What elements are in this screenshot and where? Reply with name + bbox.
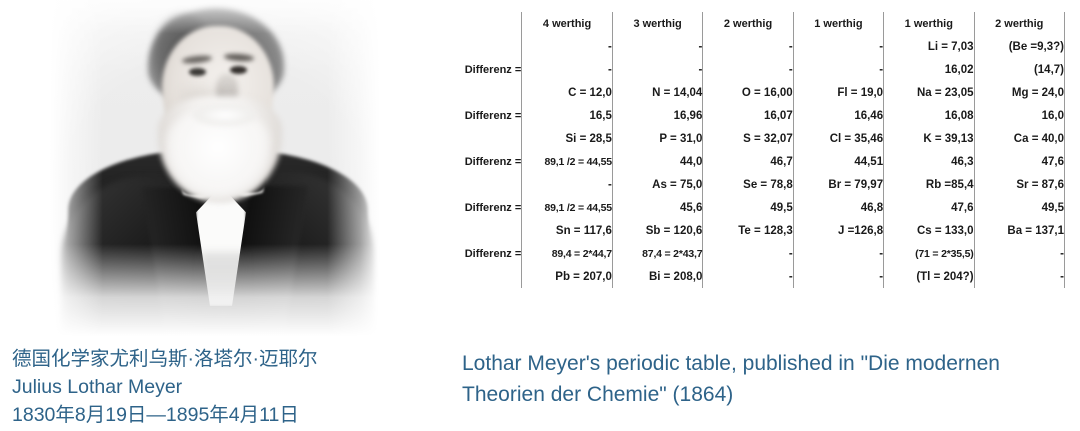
table-row: Differenz =16,516,9616,0716,4616,0816,0 bbox=[425, 104, 1065, 127]
element-cell: (71 = 2*35,5) bbox=[884, 242, 974, 265]
column-header-2: 2 werthig bbox=[703, 12, 793, 35]
element-cell: 16,02 bbox=[884, 58, 974, 81]
element-cell: 89,4 = 2*44,7 bbox=[522, 242, 613, 265]
element-cell: - bbox=[793, 58, 883, 81]
difference-label: Differenz = bbox=[425, 58, 522, 81]
element-cell: - bbox=[793, 35, 883, 58]
element-cell: - bbox=[793, 265, 883, 288]
element-cell: Sr = 87,6 bbox=[974, 173, 1064, 196]
element-cell: - bbox=[974, 265, 1064, 288]
element-cell: - bbox=[703, 242, 793, 265]
element-cell: As = 75,0 bbox=[612, 173, 702, 196]
element-cell: Pb = 207,0 bbox=[522, 265, 613, 288]
portrait-caption-line-1: 德国化学家尤利乌斯·洛塔尔·迈耶尔 bbox=[12, 345, 318, 373]
element-cell: (14,7) bbox=[974, 58, 1064, 81]
element-cell: Cl = 35,46 bbox=[793, 127, 883, 150]
element-cell: 45,6 bbox=[612, 196, 702, 219]
element-cell: Sn = 117,6 bbox=[522, 219, 613, 242]
element-cell: 44,51 bbox=[793, 150, 883, 173]
portrait-caption-line-3: 1830年8月19日—1895年4月11日 bbox=[12, 401, 318, 429]
element-cell: - bbox=[522, 35, 613, 58]
table-row: Differenz =89,1 /2 = 44,5545,649,546,847… bbox=[425, 196, 1065, 219]
row-label-empty bbox=[425, 127, 522, 150]
element-cell: - bbox=[612, 58, 702, 81]
lothar-meyer-periodic-table: 4 werthig 3 werthig 2 werthig 1 werthig … bbox=[425, 12, 1065, 288]
header-label-spacer bbox=[425, 12, 522, 35]
element-cell: Li = 7,03 bbox=[884, 35, 974, 58]
difference-label: Differenz = bbox=[425, 196, 522, 219]
element-cell: - bbox=[703, 265, 793, 288]
element-cell: (Tl = 204?) bbox=[884, 265, 974, 288]
element-cell: S = 32,07 bbox=[703, 127, 793, 150]
element-cell: Se = 78,8 bbox=[703, 173, 793, 196]
element-cell: - bbox=[974, 242, 1064, 265]
column-header-1: 3 werthig bbox=[612, 12, 702, 35]
table-row: Differenz =89,1 /2 = 44,5544,046,744,514… bbox=[425, 150, 1065, 173]
portrait-caption: 德国化学家尤利乌斯·洛塔尔·迈耶尔 Julius Lothar Meyer 18… bbox=[12, 345, 318, 429]
element-cell: 47,6 bbox=[884, 196, 974, 219]
table-row: Si = 28,5P = 31,0S = 32,07Cl = 35,46K = … bbox=[425, 127, 1065, 150]
element-cell: 44,0 bbox=[612, 150, 702, 173]
element-cell: Ca = 40,0 bbox=[974, 127, 1064, 150]
photo-edge-fade bbox=[50, 0, 380, 336]
element-cell: 49,5 bbox=[974, 196, 1064, 219]
element-cell: 16,08 bbox=[884, 104, 974, 127]
element-cell: - bbox=[522, 58, 613, 81]
element-cell: Si = 28,5 bbox=[522, 127, 613, 150]
element-cell: 46,7 bbox=[703, 150, 793, 173]
element-cell: Ba = 137,1 bbox=[974, 219, 1064, 242]
element-cell: Te = 128,3 bbox=[703, 219, 793, 242]
element-cell: Br = 79,97 bbox=[793, 173, 883, 196]
element-cell: - bbox=[703, 35, 793, 58]
table-header-row: 4 werthig 3 werthig 2 werthig 1 werthig … bbox=[425, 12, 1065, 35]
table-row: Sn = 117,6Sb = 120,6Te = 128,3J =126,8Cs… bbox=[425, 219, 1065, 242]
table-row: Differenz =----16,02(14,7) bbox=[425, 58, 1065, 81]
element-cell: 16,5 bbox=[522, 104, 613, 127]
julius-lothar-meyer-photo bbox=[50, 0, 380, 336]
element-cell: Rb =85,4 bbox=[884, 173, 974, 196]
element-cell: N = 14,04 bbox=[612, 81, 702, 104]
table-row: Differenz =89,4 = 2*44,787,4 = 2*43,7--(… bbox=[425, 242, 1065, 265]
row-label-empty bbox=[425, 35, 522, 58]
portrait-figure bbox=[0, 0, 420, 340]
element-cell: P = 31,0 bbox=[612, 127, 702, 150]
element-cell: O = 16,00 bbox=[703, 81, 793, 104]
column-header-5: 2 werthig bbox=[974, 12, 1064, 35]
table-row: C = 12,0N = 14,04O = 16,00Fl = 19,0Na = … bbox=[425, 81, 1065, 104]
element-cell: 87,4 = 2*43,7 bbox=[612, 242, 702, 265]
element-cell: - bbox=[703, 58, 793, 81]
table-caption: Lothar Meyer's periodic table, published… bbox=[462, 348, 1042, 410]
row-label-empty bbox=[425, 219, 522, 242]
table-row: Pb = 207,0Bi = 208,0--(Tl = 204?)- bbox=[425, 265, 1065, 288]
element-cell: 16,07 bbox=[703, 104, 793, 127]
element-cell: Bi = 208,0 bbox=[612, 265, 702, 288]
table-body: ----Li = 7,03(Be =9,3?)Differenz =----16… bbox=[425, 35, 1065, 288]
element-cell: (Be =9,3?) bbox=[974, 35, 1064, 58]
row-label-empty bbox=[425, 265, 522, 288]
element-cell: 49,5 bbox=[703, 196, 793, 219]
column-header-4: 1 werthig bbox=[884, 12, 974, 35]
element-cell: Cs = 133,0 bbox=[884, 219, 974, 242]
column-header-0: 4 werthig bbox=[522, 12, 613, 35]
element-cell: Na = 23,05 bbox=[884, 81, 974, 104]
element-cell: K = 39,13 bbox=[884, 127, 974, 150]
element-cell: 46,8 bbox=[793, 196, 883, 219]
element-cell: Fl = 19,0 bbox=[793, 81, 883, 104]
difference-label: Differenz = bbox=[425, 150, 522, 173]
element-cell: - bbox=[522, 173, 613, 196]
difference-label: Differenz = bbox=[425, 104, 522, 127]
element-cell: - bbox=[612, 35, 702, 58]
row-label-empty bbox=[425, 81, 522, 104]
element-cell: Sb = 120,6 bbox=[612, 219, 702, 242]
periodic-table-grid: 4 werthig 3 werthig 2 werthig 1 werthig … bbox=[425, 12, 1065, 288]
table-row: -As = 75,0Se = 78,8Br = 79,97Rb =85,4Sr … bbox=[425, 173, 1065, 196]
element-cell: J =126,8 bbox=[793, 219, 883, 242]
element-cell: 16,46 bbox=[793, 104, 883, 127]
portrait-caption-line-2: Julius Lothar Meyer bbox=[12, 373, 318, 401]
element-cell: 16,0 bbox=[974, 104, 1064, 127]
element-cell: - bbox=[793, 242, 883, 265]
row-label-empty bbox=[425, 173, 522, 196]
column-header-3: 1 werthig bbox=[793, 12, 883, 35]
element-cell: C = 12,0 bbox=[522, 81, 613, 104]
element-cell: 46,3 bbox=[884, 150, 974, 173]
table-row: ----Li = 7,03(Be =9,3?) bbox=[425, 35, 1065, 58]
element-cell: Mg = 24,0 bbox=[974, 81, 1064, 104]
element-cell: 89,1 /2 = 44,55 bbox=[522, 150, 613, 173]
difference-label: Differenz = bbox=[425, 242, 522, 265]
element-cell: 89,1 /2 = 44,55 bbox=[522, 196, 613, 219]
element-cell: 47,6 bbox=[974, 150, 1064, 173]
element-cell: 16,96 bbox=[612, 104, 702, 127]
